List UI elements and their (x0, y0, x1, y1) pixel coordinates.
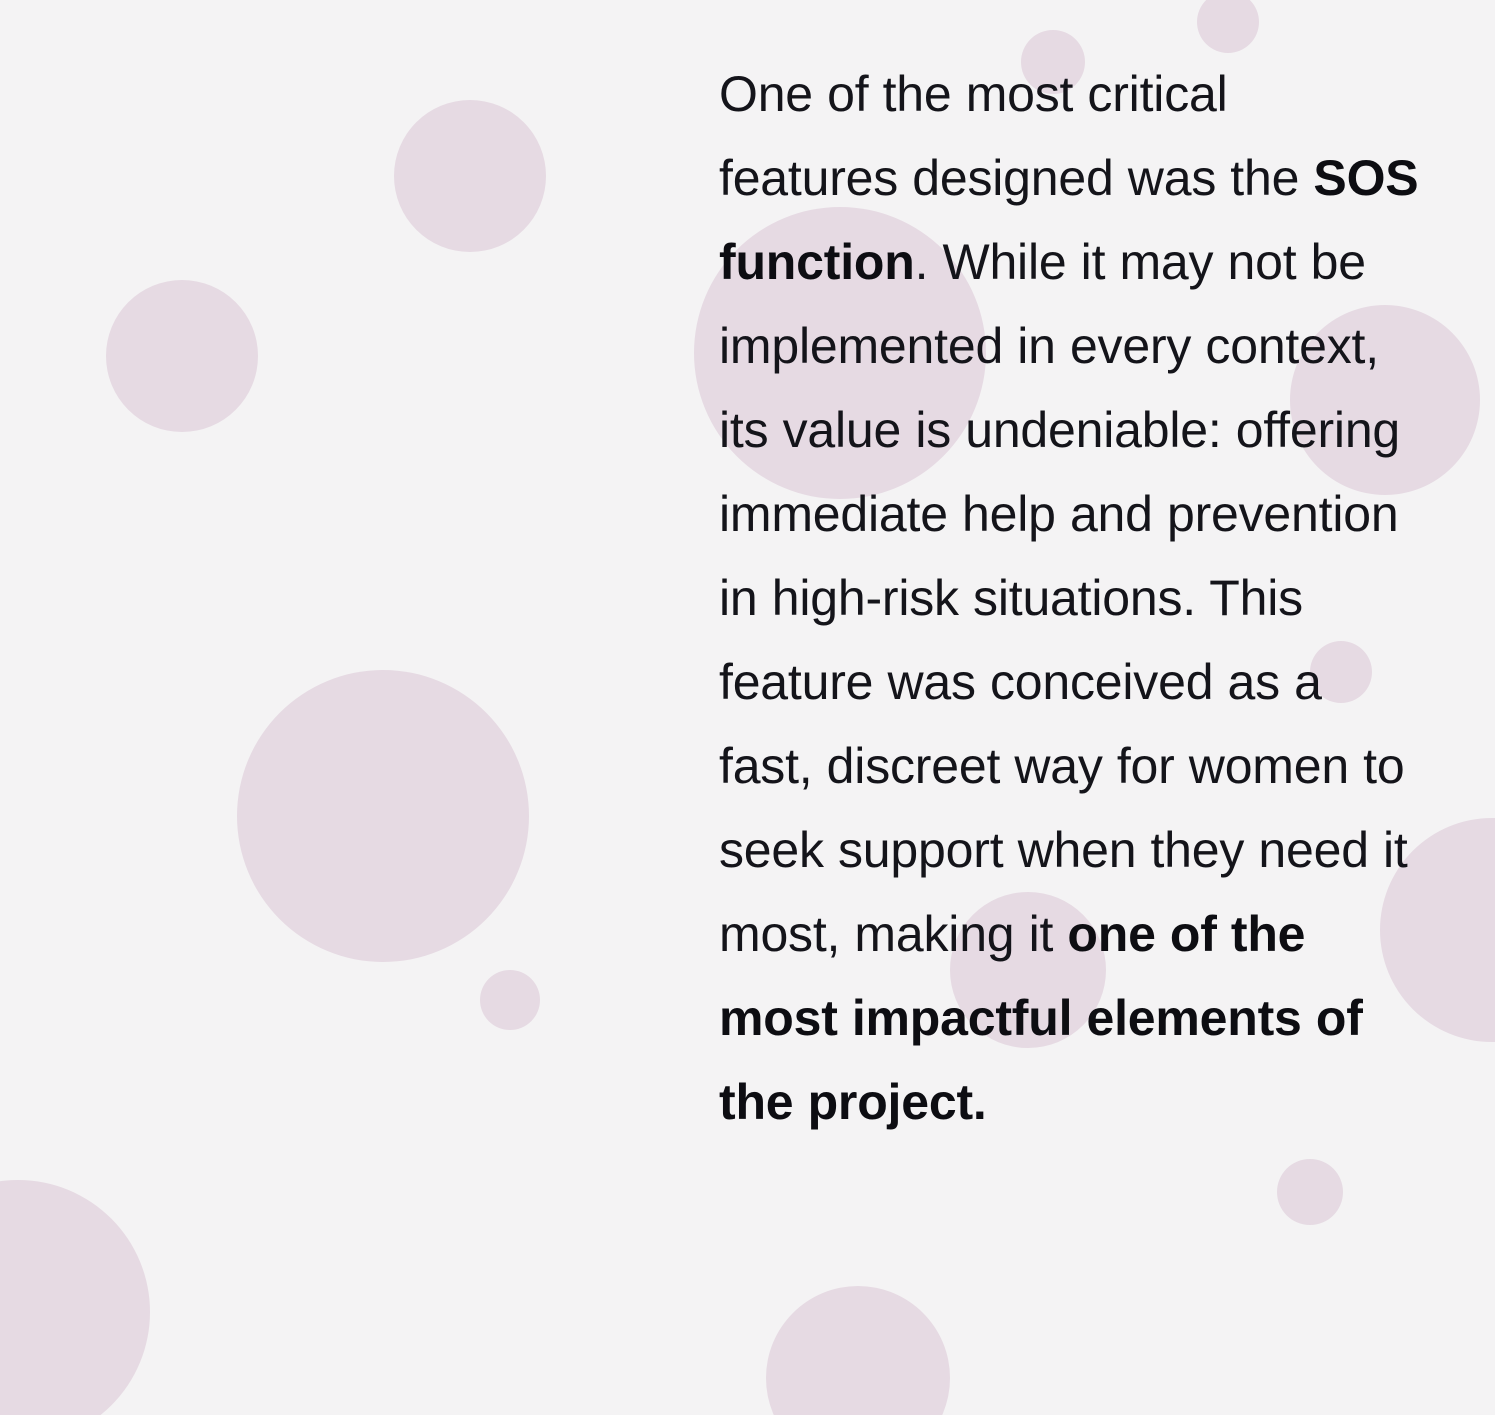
circle-bottom-center (766, 1286, 950, 1415)
circle-bottom-right (1277, 1159, 1343, 1225)
paragraph-text-lead: One of the most critical features design… (719, 66, 1313, 206)
paragraph-text-middle: . While it may not be implemented in eve… (719, 234, 1408, 962)
circle-top-right-small (1197, 0, 1259, 53)
slide-canvas: One of the most critical features design… (0, 0, 1495, 1415)
circle-bottom-left (0, 1180, 150, 1415)
text-column: One of the most critical features design… (719, 52, 1419, 1144)
body-paragraph: One of the most critical features design… (719, 52, 1419, 1144)
circle-top-left-upper (394, 100, 546, 252)
circle-left-upper (106, 280, 258, 432)
circle-left-small (480, 970, 540, 1030)
circle-left-large (237, 670, 529, 962)
